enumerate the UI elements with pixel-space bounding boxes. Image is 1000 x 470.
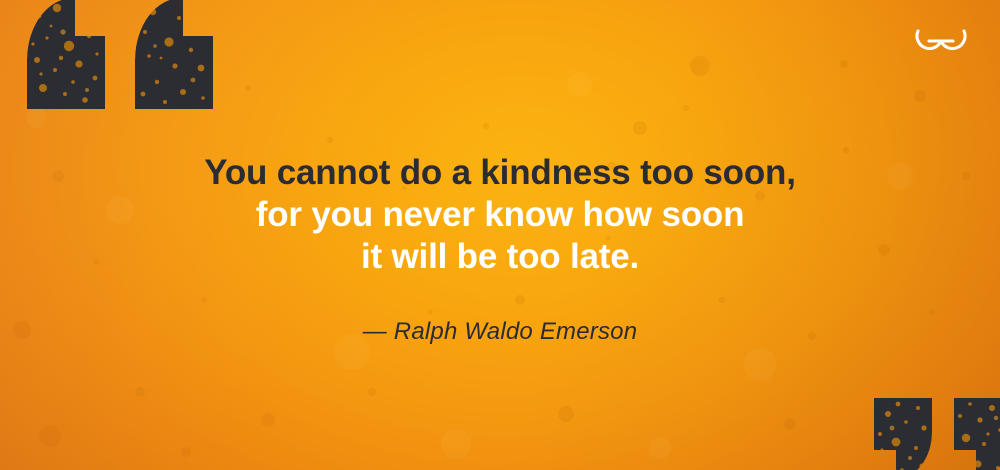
quote-attribution: — Ralph Waldo Emerson: [0, 318, 1000, 346]
quote-speckles: [135, 0, 213, 109]
quote-speckles: [954, 398, 1000, 470]
quote-line-3: it will be too late.: [0, 236, 1000, 278]
close-quotation-mark-icon: [874, 398, 932, 470]
quote-line-1: You cannot do a kindness too soon,: [0, 152, 1000, 194]
quote-card: You cannot do a kindness too soon, for y…: [0, 0, 1000, 470]
close-quote-decoration: [874, 398, 1000, 470]
open-quote-decoration: [27, 0, 213, 109]
quote-text-block: You cannot do a kindness too soon, for y…: [0, 152, 1000, 278]
quote-line-2: for you never know how soon: [0, 194, 1000, 236]
quote-speckles: [874, 398, 932, 470]
open-quotation-mark-icon: [135, 0, 213, 109]
geeksforgeeks-logo-icon: [908, 21, 974, 61]
close-quotation-mark-icon: [954, 398, 1000, 470]
quote-speckles: [27, 0, 105, 109]
open-quotation-mark-icon: [27, 0, 105, 109]
